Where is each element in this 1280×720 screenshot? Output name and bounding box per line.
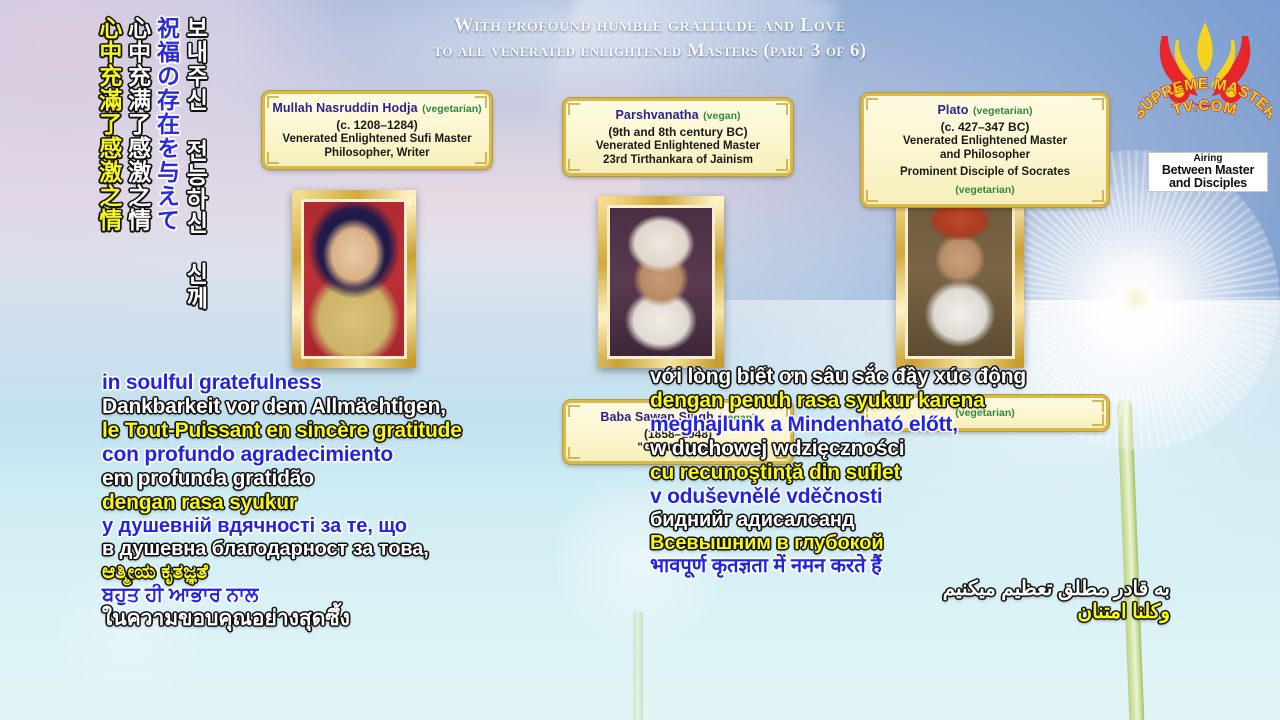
subtitle-block-right: với lòng biết ơn sâu sắc đầy xúc động de… xyxy=(650,366,1170,625)
master-extra-row: Prominent Disciple of Socrates (vegetari… xyxy=(870,162,1100,198)
vertical-subtitle-chinese-traditional: 心中充滿了感激之情 xyxy=(96,16,121,356)
airing-program-line2: and Disciples xyxy=(1169,177,1247,190)
subtitle-line-indonesian: dengan penuh rasa syukur karena xyxy=(650,390,1170,411)
card-corner xyxy=(776,159,788,171)
card-corner xyxy=(1092,98,1104,110)
master-description-line: Philosopher, Writer xyxy=(271,146,483,160)
card-corner xyxy=(568,103,580,115)
subtitle-line-punjabi: ਬਹੁਤ ਹੀ ਆਭਾਰ ਨਾਲ xyxy=(102,585,662,605)
vertical-subtitle-japanese: 祝福の存在を与えて xyxy=(154,16,179,356)
subtitle-line-mongolian: биднийг адисалсанд xyxy=(650,510,1170,530)
card-corner xyxy=(267,96,279,108)
subtitle-line-hungarian: meghajlunk a Mindenható előtt, xyxy=(650,414,1170,435)
master-dates: (9th and 8th century BC) xyxy=(572,125,784,139)
subtitle-line-portuguese: em profunda gratidão xyxy=(102,468,662,489)
master-diet-tag: (vegetarian) xyxy=(422,103,482,115)
master-name-row: Plato (vegetarian) xyxy=(870,101,1100,119)
card-corner xyxy=(267,152,279,164)
airing-badge: Airing Between Master and Disciples xyxy=(1148,152,1268,192)
portrait-image xyxy=(304,202,404,356)
master-caption-parshvanatha: Parshvanatha (vegan) (9th and 8th centur… xyxy=(563,98,793,176)
master-name: Parshvanatha xyxy=(616,108,699,122)
supreme-master-tv-logo[interactable]: SUPREME MASTER TV.COM xyxy=(1138,14,1272,140)
subtitle-line-thai: ในความขอบคุณอย่างสุดซึ้ง xyxy=(102,608,662,629)
master-name-row: Parshvanatha (vegan) xyxy=(572,106,784,124)
subtitle-line-ukrainian: у душевній вдячності за те, що xyxy=(102,516,662,536)
subtitle-line-german: Dankbarkeit vor dem Allmächtigen, xyxy=(102,396,662,417)
subtitle-line-polish: w duchowej wdzięczności xyxy=(650,438,1170,459)
master-extra-diet-tag: (vegetarian) xyxy=(955,184,1015,196)
master-description-line: Venerated Enlightened Master xyxy=(870,134,1100,148)
subtitle-line-malay: dengan rasa syukur xyxy=(102,492,662,513)
card-corner xyxy=(776,103,788,115)
subtitle-line-hindi: भावपूर्ण कृतज्ञता में नमन करते हैं xyxy=(650,556,1170,576)
portrait-frame-third-master xyxy=(896,182,1024,368)
subtitle-line-russian: Всевышним в глубокой xyxy=(650,533,1170,553)
subtitle-line-romanian: cu recunoştinţă din suflet xyxy=(650,462,1170,483)
subtitle-line-persian: به قادر مطلق تعظیم میکنیم xyxy=(650,579,1170,599)
card-corner xyxy=(1092,190,1104,202)
subtitle-line-bulgarian: в душевна благодарност за това, xyxy=(102,539,662,559)
master-description-line: 23rd Tirthankara of Jainism xyxy=(572,153,784,167)
master-name: Mullah Nasruddin Hodja xyxy=(272,101,417,115)
broadcast-stage: With profound humble gratitude and Love … xyxy=(0,0,1280,720)
program-title-line2: to all venerated enlightened Masters (pa… xyxy=(300,39,1000,63)
master-dates: (c. 1208–1284) xyxy=(271,118,483,132)
master-caption-plato: Plato (vegetarian) (c. 427–347 BC) Vener… xyxy=(861,93,1109,207)
vertical-subtitle-columns: 보내주신 전능하신 신께 祝福の存在を与えて 心中充满了感激之情 心中充滿了感激… xyxy=(96,16,207,356)
card-corner xyxy=(475,96,487,108)
master-extra: Prominent Disciple of Socrates xyxy=(900,166,1070,178)
master-caption-mullah-nasruddin-hodja: Mullah Nasruddin Hodja (vegetarian) (c. … xyxy=(262,91,492,169)
program-title-line1: With profound humble gratitude and Love xyxy=(300,14,1000,39)
portrait-frame-baba-sawan-singh xyxy=(598,196,724,368)
subtitle-line-english: in soulful gratefulness xyxy=(102,372,662,393)
card-corner xyxy=(866,98,878,110)
master-diet-tag: (vegan) xyxy=(703,110,740,122)
portrait-image xyxy=(610,208,712,356)
subtitle-line-vietnamese: với lòng biết ơn sâu sắc đầy xúc động xyxy=(650,366,1170,387)
master-name-row: Mullah Nasruddin Hodja (vegetarian) xyxy=(271,99,483,117)
master-dates: (c. 427–347 BC) xyxy=(870,120,1100,134)
card-corner xyxy=(568,159,580,171)
master-description-line: Venerated Enlightened Sufi Master xyxy=(271,132,483,146)
master-name: Plato xyxy=(937,103,968,117)
master-description-line: Venerated Enlightened Master xyxy=(572,139,784,153)
card-corner xyxy=(475,152,487,164)
logo-flame-icon: SUPREME MASTER TV.COM xyxy=(1138,14,1272,140)
portrait-frame-mullah-nasruddin-hodja xyxy=(292,190,416,368)
subtitle-line-kannada: ಆತ್ಮೀಯ ಕೃತಜ್ಞತೆ xyxy=(102,562,662,582)
subtitle-line-czech: v oduševnělé vděčnosti xyxy=(650,486,1170,507)
master-diet-tag: (vegetarian) xyxy=(973,105,1033,117)
subtitle-line-french: le Tout-Puissant en sincère gratitude xyxy=(102,420,662,441)
card-corner xyxy=(866,190,878,202)
portrait-image xyxy=(908,194,1012,356)
subtitle-line-spanish: con profundo agradecimiento xyxy=(102,444,662,465)
dandelion-core xyxy=(1118,280,1154,316)
vertical-subtitle-korean: 보내주신 전능하신 신께 xyxy=(182,16,207,356)
subtitle-block-left: in soulful gratefulness Dankbarkeit vor … xyxy=(102,372,662,632)
subtitle-line-arabic: وكلنا امتنان xyxy=(650,602,1170,622)
program-title: With profound humble gratitude and Love … xyxy=(300,14,1000,63)
master-description-line: and Philosopher xyxy=(870,148,1100,162)
vertical-subtitle-chinese-simplified: 心中充满了感激之情 xyxy=(125,16,150,356)
